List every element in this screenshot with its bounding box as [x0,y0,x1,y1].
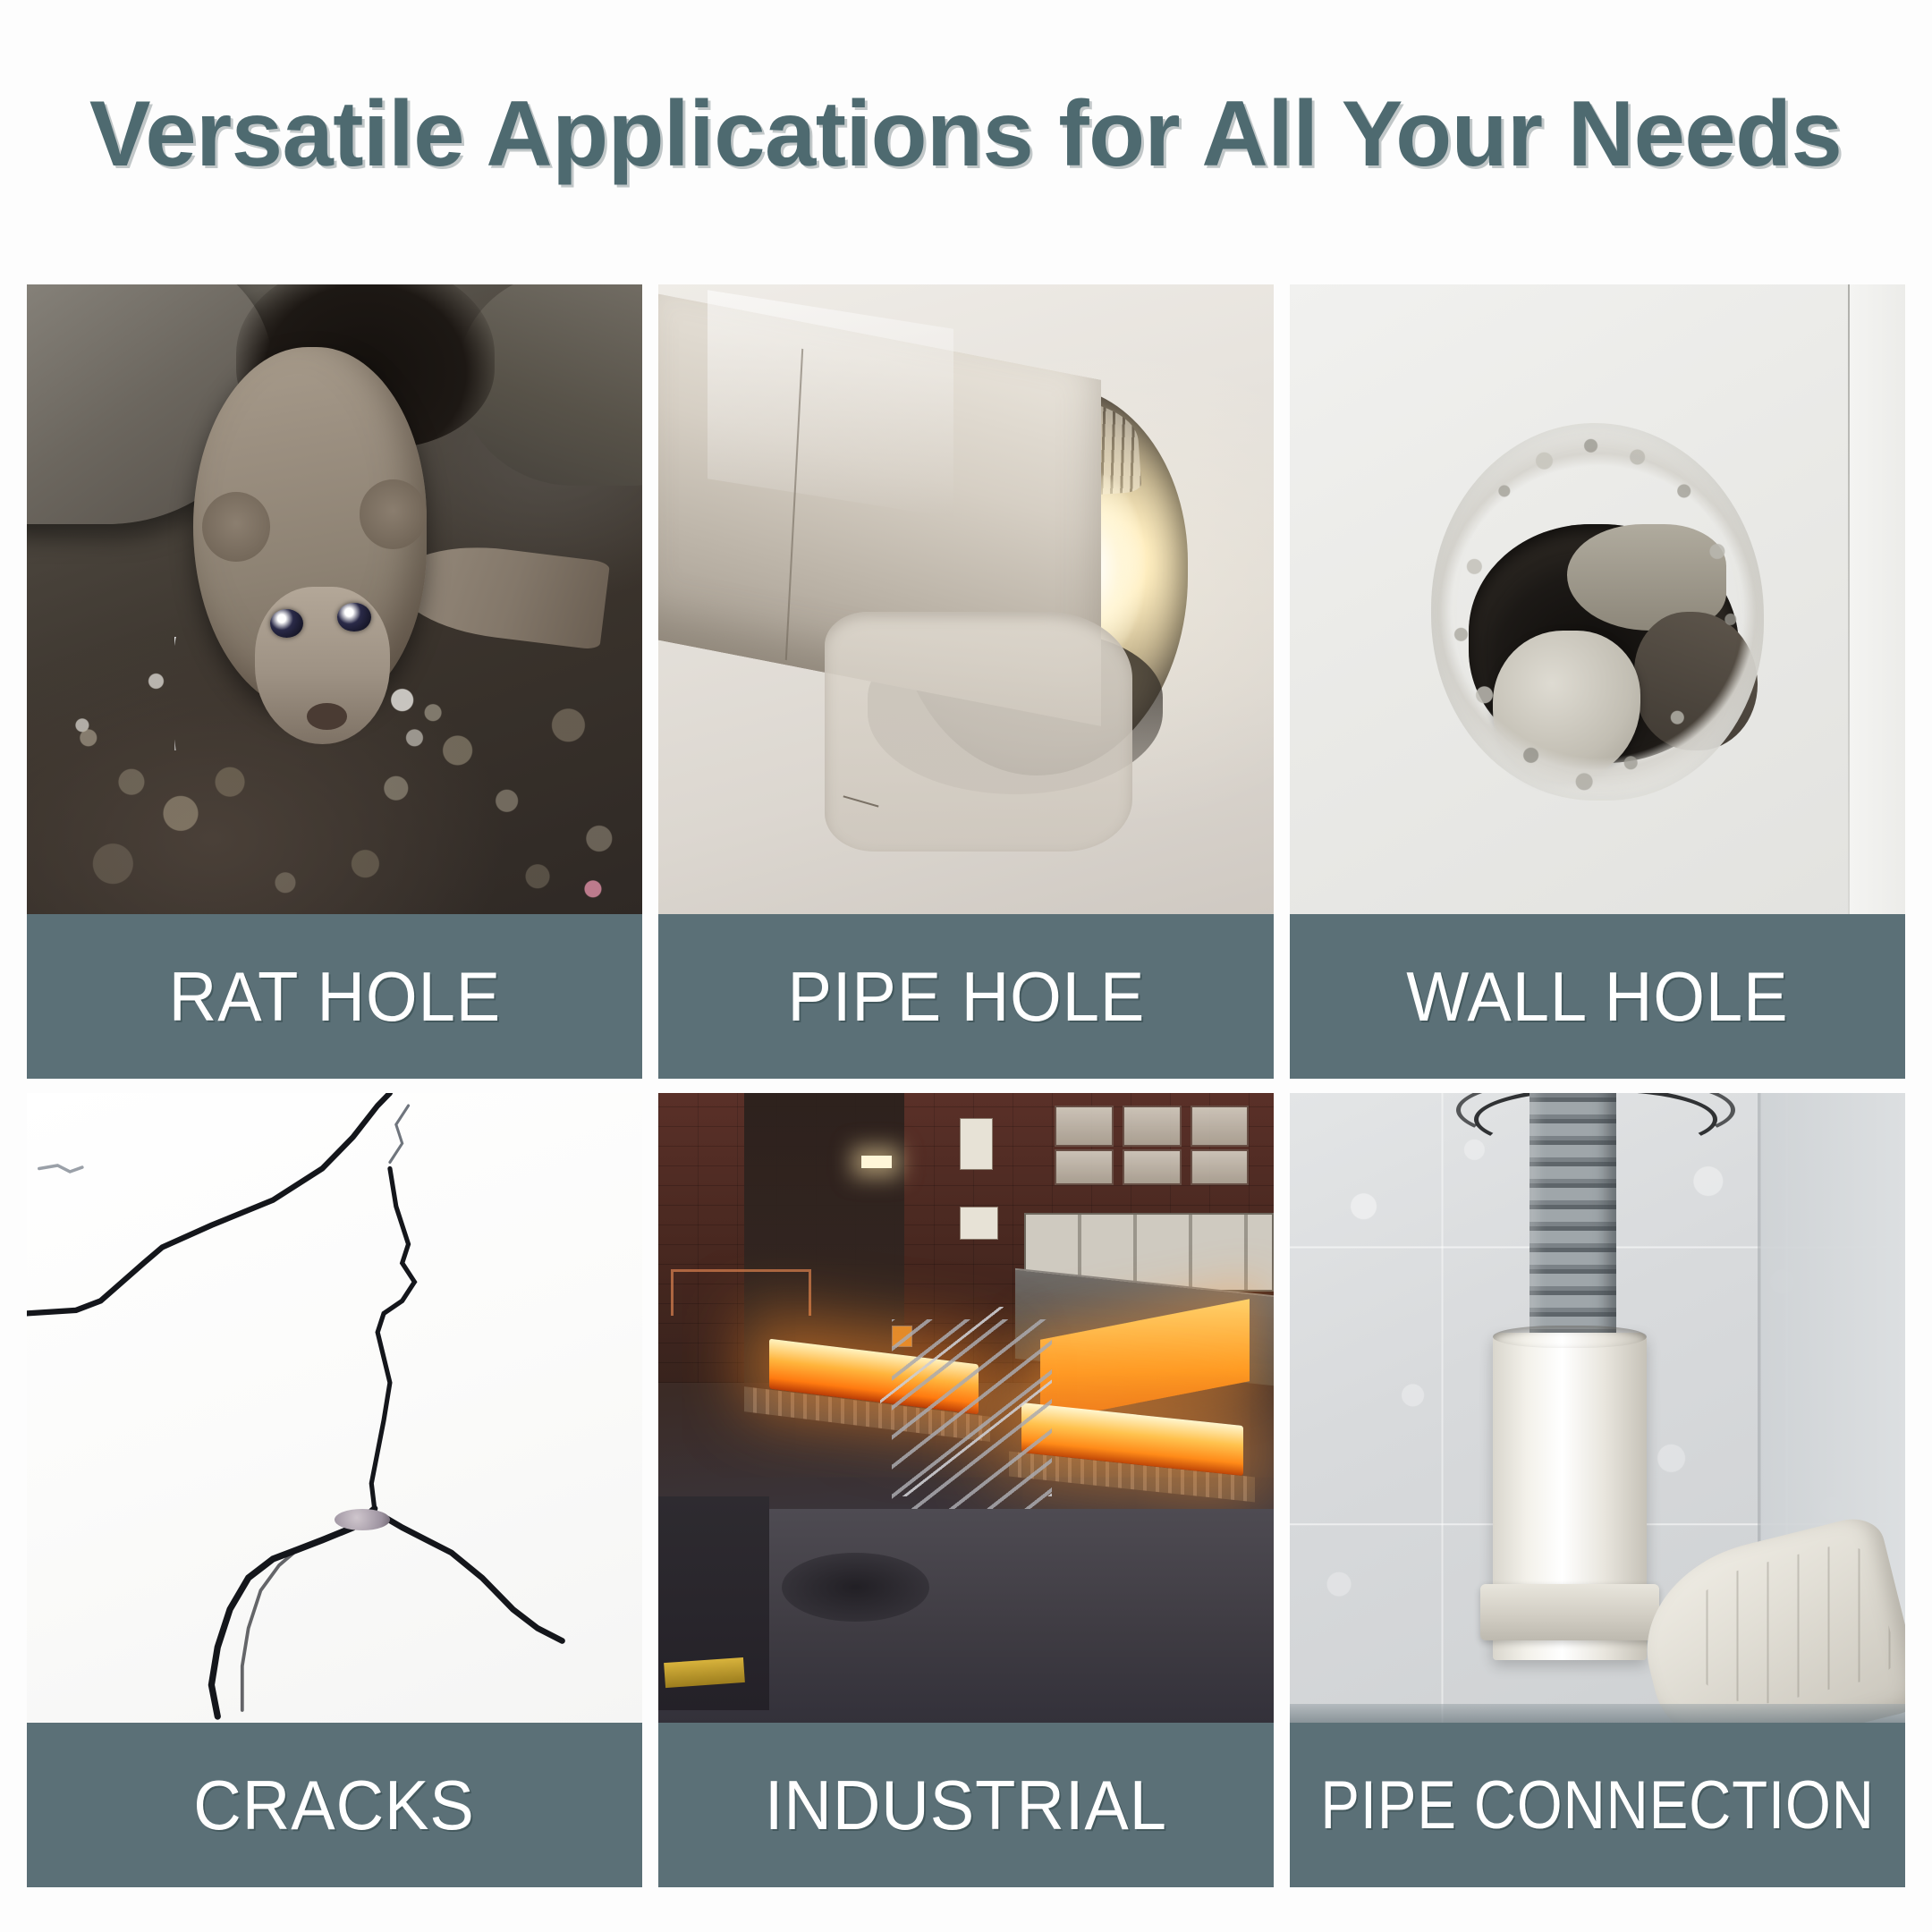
caption-bar-wall-hole: WALL HOLE [1290,914,1905,1079]
caption-label-wall-hole: WALL HOLE [1406,956,1788,1038]
crack-junction-debris [335,1509,390,1530]
factory-window [1191,1149,1250,1184]
factory-window [1055,1106,1114,1147]
title-area: Versatile Applications for All Your Need… [0,0,1932,268]
wall-sign [960,1207,998,1240]
caption-label-cracks: CRACKS [194,1765,476,1846]
pipe-hole-photo [658,284,1274,914]
factory-window [1055,1149,1114,1184]
factory-window [1123,1106,1182,1147]
staircase-handrail [880,1307,1053,1496]
application-tile-cracks[interactable]: CRACKS [27,1093,642,1887]
corrugated-conduit [1529,1093,1615,1358]
application-grid: RAT HOLE PIPE HOLE [27,284,1905,1887]
crumbled-edge-texture [1431,423,1764,801]
caption-label-rat-hole: RAT HOLE [168,956,500,1038]
ceiling-lamp [861,1156,892,1168]
pipe-connection-photo [1290,1093,1905,1723]
pvc-pipe-opening [1493,1326,1647,1348]
floor-puddle [782,1553,929,1622]
duct-fold-highlight [708,290,953,518]
caption-bar-pipe-connection: PIPE CONNECTION [1290,1723,1905,1887]
factory-window [1191,1106,1250,1147]
caption-bar-pipe-hole: PIPE HOLE [658,914,1274,1079]
adjacent-wall-panel [1850,284,1905,914]
pvc-pipe-collar [1480,1584,1659,1640]
application-tile-pipe-connection[interactable]: PIPE CONNECTION [1290,1093,1905,1887]
application-tile-pipe-hole[interactable]: PIPE HOLE [658,284,1274,1079]
plaster-patch-shape [825,612,1132,852]
wall-sign [960,1118,992,1170]
overhead-catwalk [671,1269,811,1316]
caption-bar-cracks: CRACKS [27,1723,642,1887]
caption-label-pipe-connection: PIPE CONNECTION [1320,1767,1874,1844]
yellow-machine-bar [664,1657,745,1688]
page-title: Versatile Applications for All Your Need… [89,81,1842,188]
wall-seam-line [1848,284,1850,914]
caption-label-industrial: INDUSTRIAL [765,1765,1167,1846]
gravel-debris-texture [27,284,642,914]
crack-lines-graphic [27,1093,642,1723]
wall-hole-photo [1290,284,1905,914]
floor-edge-line [1290,1704,1905,1723]
industrial-photo [658,1093,1274,1723]
rat-hole-photo [27,284,642,914]
application-tile-wall-hole[interactable]: WALL HOLE [1290,284,1905,1079]
application-tile-industrial[interactable]: INDUSTRIAL [658,1093,1274,1887]
applications-poster: Versatile Applications for All Your Need… [0,0,1932,1932]
caption-bar-industrial: INDUSTRIAL [658,1723,1274,1887]
application-tile-rat-hole[interactable]: RAT HOLE [27,284,642,1079]
factory-window [1123,1149,1182,1184]
caption-bar-rat-hole: RAT HOLE [27,914,642,1079]
caption-label-pipe-hole: PIPE HOLE [787,956,1145,1038]
cracks-photo [27,1093,642,1723]
